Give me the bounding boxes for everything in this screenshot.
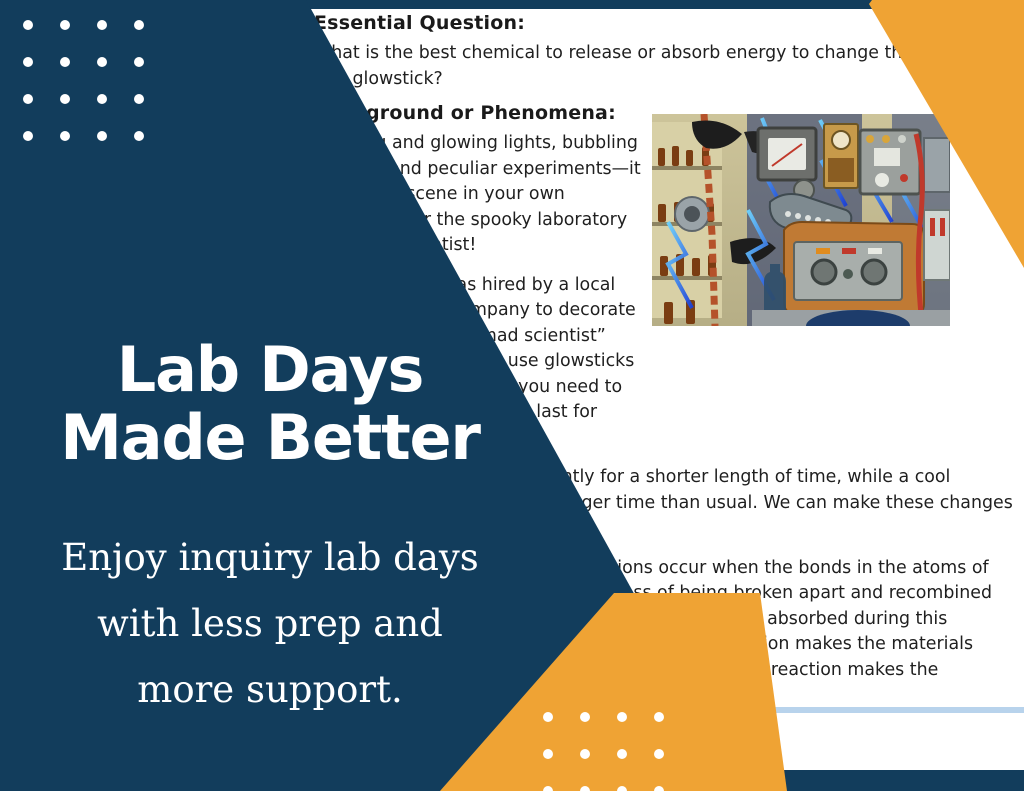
dot [134, 94, 144, 104]
promo-poster: Essential Question: What is the best che… [0, 0, 1024, 791]
dot [580, 749, 590, 759]
dot [23, 94, 33, 104]
dot [60, 131, 70, 141]
dot [580, 786, 590, 791]
dot [543, 786, 553, 791]
subtitle-line-1: Enjoy inquiry lab days [0, 525, 540, 591]
dot-grid-bottom [543, 712, 664, 791]
headline: Lab Days Made Better [0, 336, 540, 472]
dot [580, 712, 590, 722]
dot [97, 20, 107, 30]
dot [97, 57, 107, 67]
dot [23, 20, 33, 30]
dot [617, 712, 627, 722]
dot [543, 749, 553, 759]
dot [543, 712, 553, 722]
dot [60, 94, 70, 104]
dot [97, 131, 107, 141]
dot [23, 57, 33, 67]
dot [654, 749, 664, 759]
dot [134, 131, 144, 141]
headline-line-1: Lab Days [0, 336, 540, 404]
subtitle-line-2: with less prep and [0, 591, 540, 657]
headline-line-2: Made Better [0, 404, 540, 472]
dot [60, 20, 70, 30]
dot [134, 57, 144, 67]
bottom-navy-bar [0, 770, 1024, 791]
dot-grid-top [23, 20, 144, 141]
dot [97, 94, 107, 104]
subtitle: Enjoy inquiry lab days with less prep an… [0, 525, 540, 723]
dot [60, 57, 70, 67]
dot [134, 20, 144, 30]
dot [617, 749, 627, 759]
dot [654, 712, 664, 722]
subtitle-line-3: more support. [0, 657, 540, 723]
dot [617, 786, 627, 791]
dot [23, 131, 33, 141]
dot [654, 786, 664, 791]
